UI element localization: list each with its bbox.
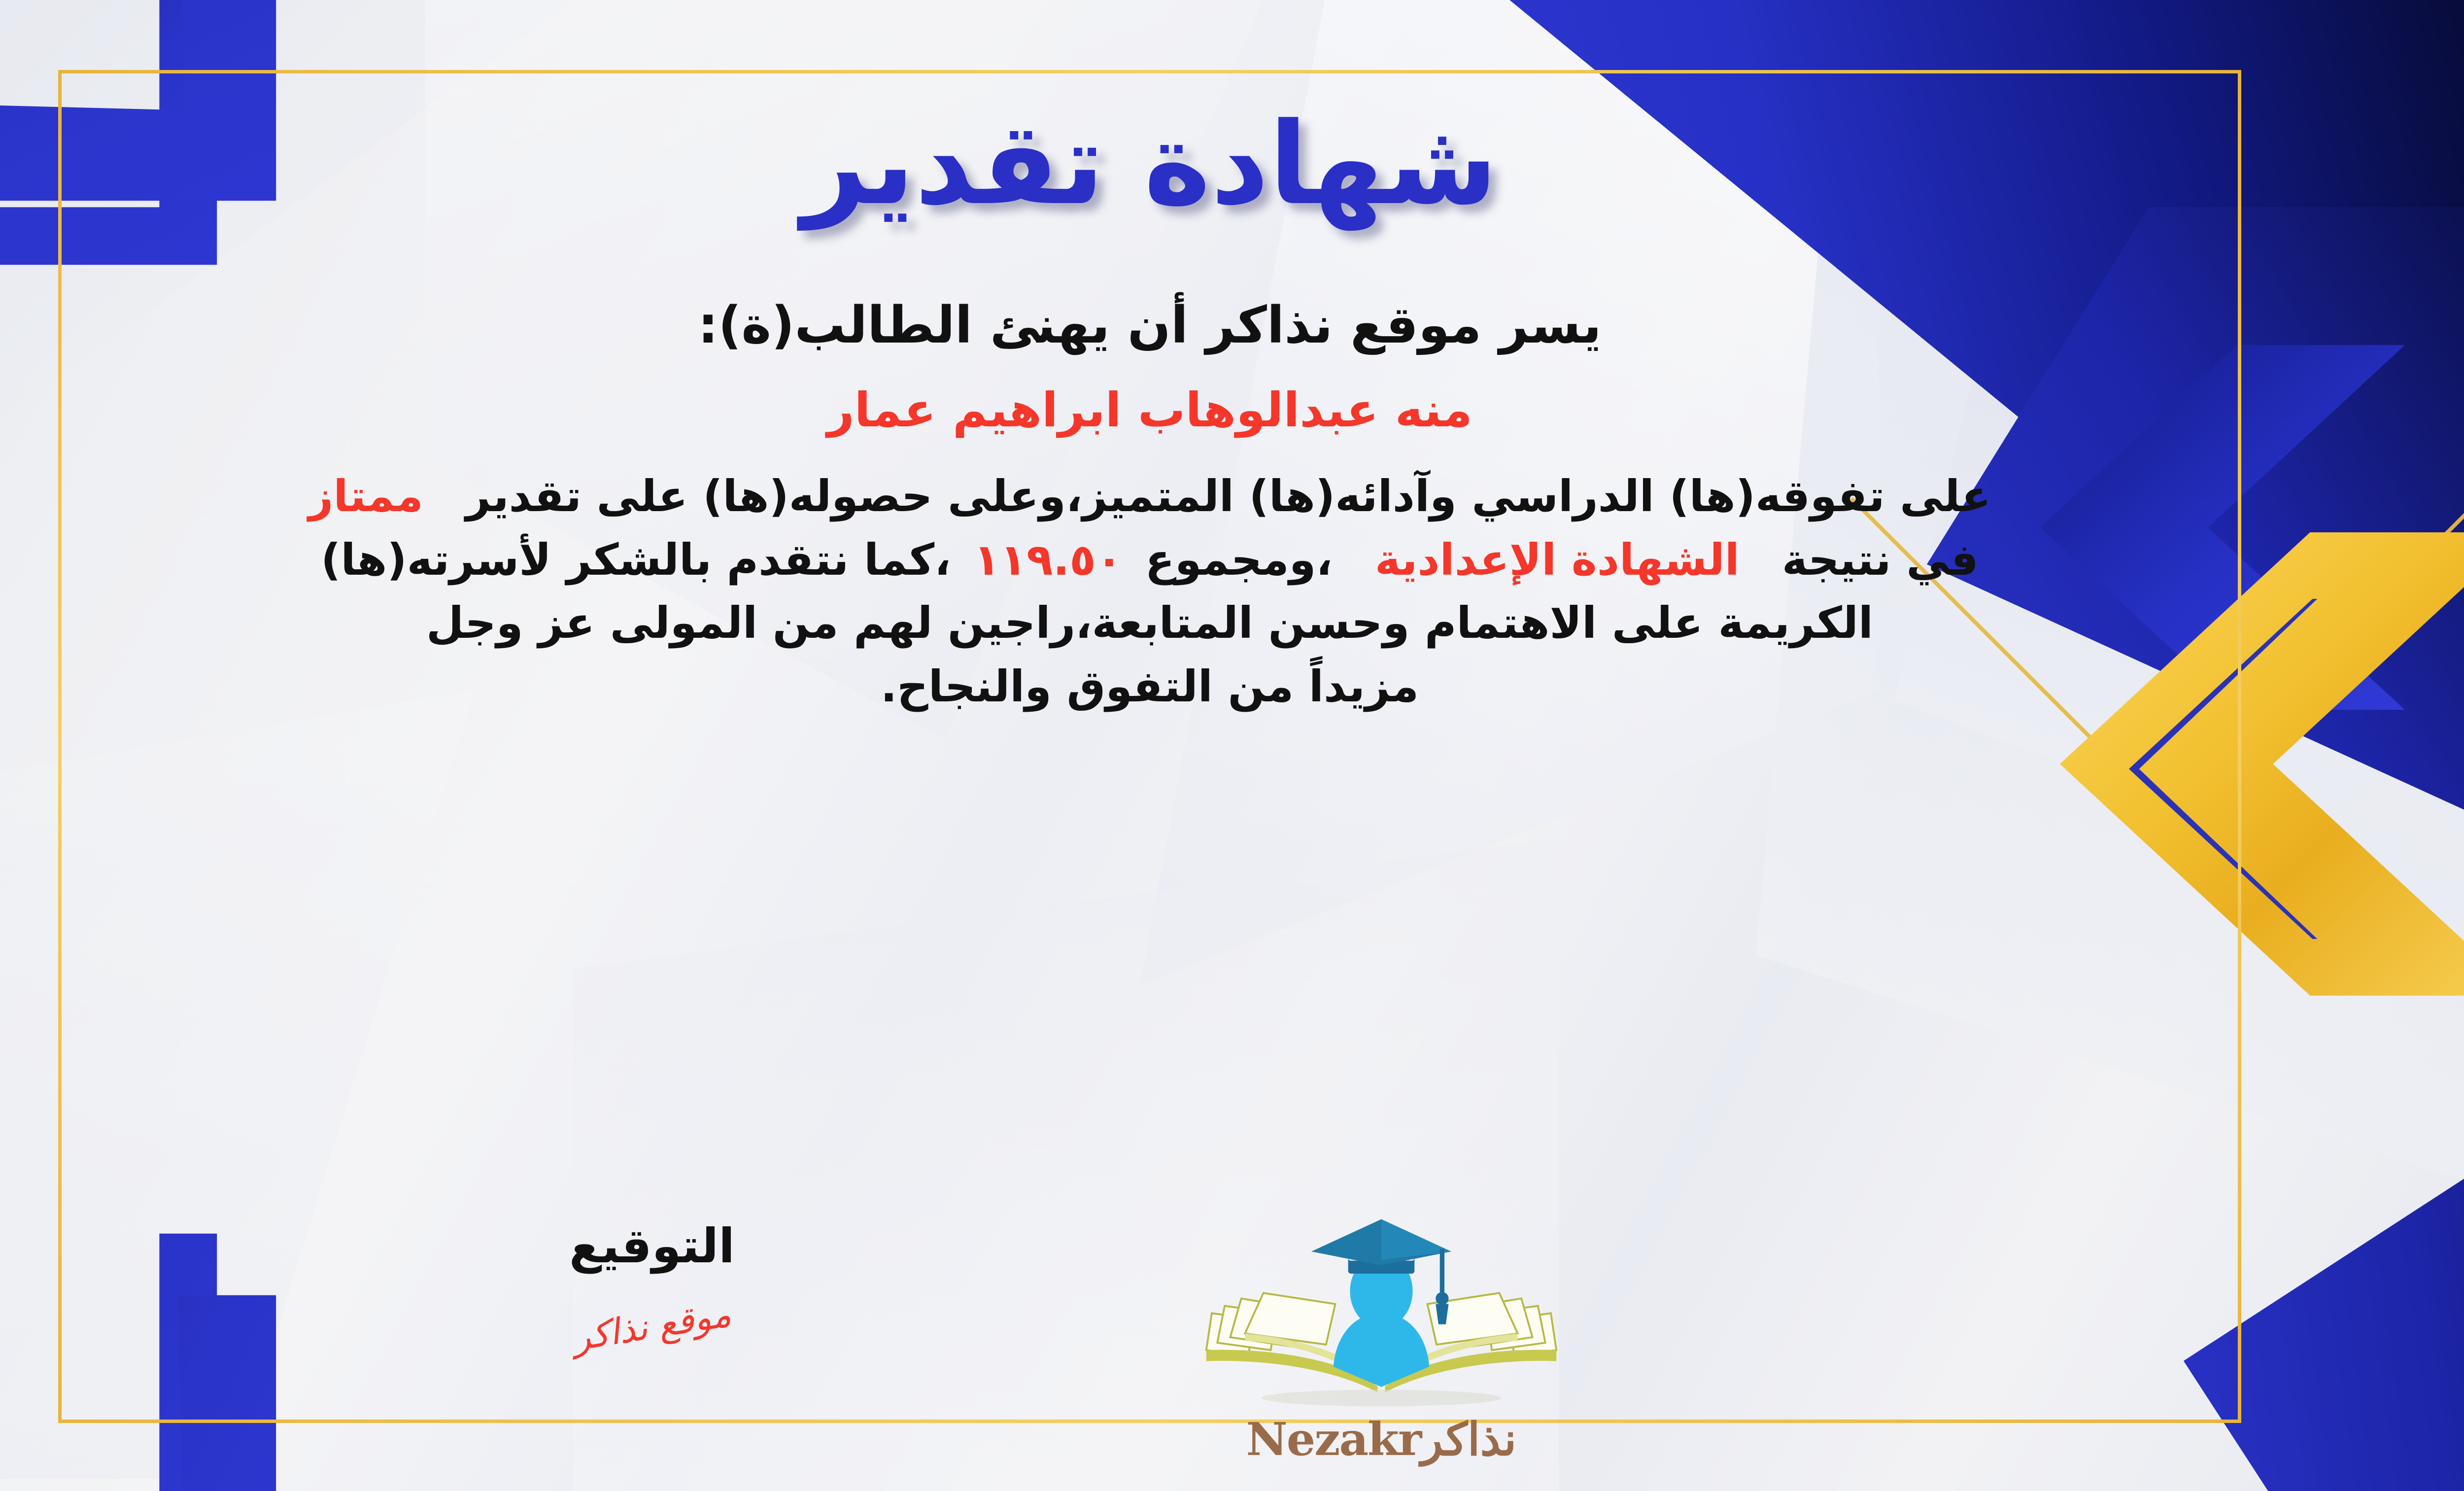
citation-line-2-prefix: في نتيجة [1782, 534, 1979, 585]
citation-line-2-middle: ،ومجموع [1145, 534, 1333, 585]
frame-border-top [58, 70, 2241, 73]
citation-line-2-suffix: ،كما نتقدم بالشكر لأسرته(ها) [321, 534, 951, 585]
signature-label: التوقيع [479, 1222, 824, 1270]
citation-line-2: في نتيجةالشهادة الإعدادية،ومجموع١١٩.٥٠،ك… [75, 528, 2224, 591]
brand-wordmark: Nezakrنذاكر [1194, 1417, 1569, 1462]
signature-mark: موقع نذاكر [571, 1296, 734, 1356]
signature-block: التوقيع موقع نذاكر [479, 1222, 824, 1344]
certificate-content: شهادة تقدير يسر موقع نذاكر أن يهنئ الطال… [66, 79, 2234, 1415]
certificate-title: شهادة تقدير [66, 98, 2234, 231]
citation-paragraph: على تفوقه(ها) الدراسي وآدائه(ها) المتميز… [66, 465, 2234, 718]
citation-line-1: على تفوقه(ها) الدراسي وآدائه(ها) المتميز… [75, 465, 2224, 528]
exam-name: الشهادة الإعدادية [1375, 534, 1740, 585]
frame-border-left [58, 70, 62, 1423]
student-name: منه عبدالوهاب ابراهيم عمار [66, 380, 2234, 441]
frame-border-right [2238, 70, 2241, 1423]
certificate-footer: التوقيع موقع نذاكر [66, 1183, 2234, 1491]
total-score: ١١٩.٥٠ [974, 534, 1123, 585]
certificate-page: شهادة تقدير يسر موقع نذاكر أن يهنئ الطال… [0, 0, 2464, 1491]
citation-line-4: مزيداً من التفوق والنجاح. [75, 655, 2224, 718]
greeting-line: يسر موقع نذاكر أن يهنئ الطالب(ة): [66, 291, 2234, 360]
grade-value: ممتاز [308, 471, 423, 521]
brand-logo: Nezakrنذاكر [1194, 1203, 1569, 1462]
citation-line-1-text: على تفوقه(ها) الدراسي وآدائه(ها) المتميز… [466, 471, 1991, 521]
graduate-with-book-logo-icon [1194, 1203, 1569, 1415]
citation-line-3: الكريمة على الاهتمام وحسن المتابعة،راجين… [75, 591, 2224, 655]
